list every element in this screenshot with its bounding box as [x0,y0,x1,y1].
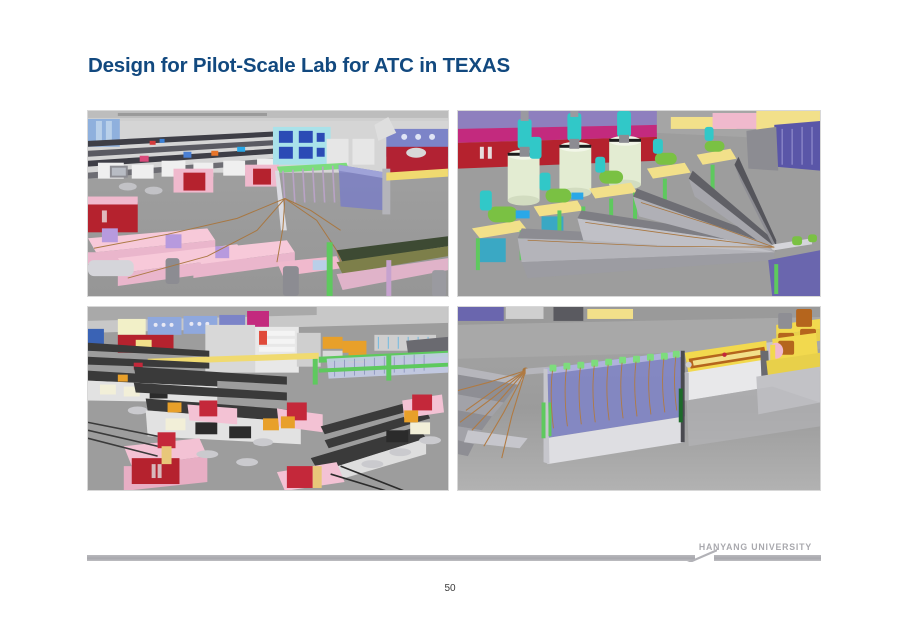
image-coating-line-render[interactable] [457,306,821,491]
coating-line-graphic [458,307,820,491]
slide-root: Design for Pilot-Scale Lab for ATC in TE… [0,0,900,635]
page-number: 50 [0,583,900,594]
image-bench-rows-render[interactable] [87,306,449,491]
footer-rule-left [87,555,695,561]
bench-rows-graphic [88,307,448,491]
page-title: Design for Pilot-Scale Lab for ATC in TE… [88,54,510,78]
image-lab-overview-render[interactable] [87,110,449,297]
lab-overview-graphic [88,111,448,297]
reactor-conveyor-graphic [458,111,820,297]
image-reactor-conveyor-render[interactable] [457,110,821,297]
image-grid [87,110,821,491]
footer-rule-right [714,555,821,561]
